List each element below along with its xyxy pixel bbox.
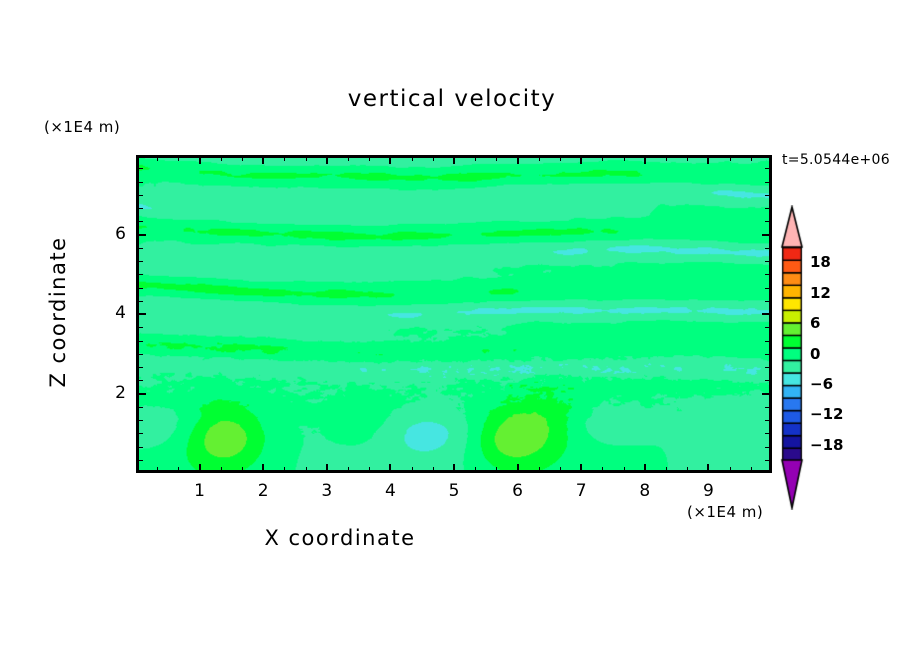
y-tick-minor <box>136 327 143 328</box>
x-tick-label: 3 <box>312 481 342 501</box>
y-tick-minor-right <box>765 433 772 434</box>
y-tick-label: 4 <box>96 303 126 323</box>
y-tick-minor <box>136 168 143 169</box>
y-tick-minor-right <box>765 420 772 421</box>
x-tick-minor-top <box>221 155 222 161</box>
y-tick-minor <box>136 261 143 262</box>
y-tick-minor-right <box>765 261 772 262</box>
y-tick-minor-right <box>765 380 772 381</box>
x-tick-minor-top <box>475 155 476 161</box>
y-tick-minor <box>136 407 143 408</box>
x-tick-label: 1 <box>185 481 215 501</box>
colorbar-tick-label: −6 <box>810 375 833 393</box>
x-tick-label: 9 <box>693 481 723 501</box>
x-tick-minor-top <box>433 155 434 161</box>
x-tick-major-top <box>453 155 455 164</box>
x-tick-minor <box>602 467 603 473</box>
x-tick-major-top <box>580 155 582 164</box>
y-tick-minor-right <box>765 221 772 222</box>
x-tick-major-top <box>389 155 391 164</box>
x-tick-major <box>580 464 582 473</box>
x-tick-minor <box>475 467 476 473</box>
x-tick-minor-top <box>412 155 413 161</box>
x-tick-label: 4 <box>375 481 405 501</box>
x-tick-minor-top <box>369 155 370 161</box>
colorbar-tick-label: 12 <box>810 284 831 302</box>
y-tick-minor <box>136 301 143 302</box>
colorbar: 181260−6−12−18 <box>780 205 900 510</box>
axis-ticks-layer: 123456789246 <box>0 0 904 654</box>
x-tick-minor <box>624 467 625 473</box>
x-tick-minor-top <box>560 155 561 161</box>
x-tick-major <box>389 464 391 473</box>
colorbar-tick-label: 18 <box>810 253 831 271</box>
colorbar-tick-label: 6 <box>810 314 820 332</box>
x-tick-major <box>262 464 264 473</box>
y-tick-minor-right <box>765 447 772 448</box>
x-tick-label: 2 <box>248 481 278 501</box>
x-tick-minor <box>433 467 434 473</box>
x-tick-minor <box>284 467 285 473</box>
y-tick-minor <box>136 420 143 421</box>
y-tick-minor <box>136 195 143 196</box>
x-tick-minor <box>730 467 731 473</box>
x-tick-minor-top <box>242 155 243 161</box>
y-tick-minor <box>136 341 143 342</box>
y-tick-minor-right <box>765 327 772 328</box>
y-tick-minor-right <box>765 168 772 169</box>
x-tick-minor <box>348 467 349 473</box>
y-tick-minor-right <box>765 460 772 461</box>
y-tick-minor <box>136 380 143 381</box>
x-tick-major <box>517 464 519 473</box>
y-tick-minor-right <box>765 208 772 209</box>
y-tick-minor-right <box>765 341 772 342</box>
colorbar-tick-label: 0 <box>810 345 820 363</box>
y-tick-minor <box>136 433 143 434</box>
x-tick-minor <box>157 467 158 473</box>
y-tick-major-right <box>762 393 772 395</box>
y-tick-minor-right <box>765 248 772 249</box>
x-tick-major-top <box>199 155 201 164</box>
x-tick-major <box>199 464 201 473</box>
x-tick-label: 6 <box>503 481 533 501</box>
y-tick-major-right <box>762 313 772 315</box>
x-tick-major-top <box>326 155 328 164</box>
x-tick-minor-top <box>284 155 285 161</box>
x-tick-minor <box>496 467 497 473</box>
y-tick-label: 2 <box>96 383 126 403</box>
x-tick-minor-top <box>306 155 307 161</box>
x-tick-minor <box>369 467 370 473</box>
x-tick-minor <box>666 467 667 473</box>
y-tick-minor <box>136 354 143 355</box>
x-tick-minor-top <box>602 155 603 161</box>
x-tick-minor-top <box>624 155 625 161</box>
x-tick-minor <box>242 467 243 473</box>
y-tick-minor-right <box>765 407 772 408</box>
x-tick-major <box>326 464 328 473</box>
colorbar-tick-label: −18 <box>810 436 843 454</box>
y-tick-minor-right <box>765 367 772 368</box>
x-tick-minor-top <box>348 155 349 161</box>
y-tick-major <box>136 393 146 395</box>
x-tick-major-top <box>262 155 264 164</box>
x-tick-minor-top <box>157 155 158 161</box>
y-tick-minor-right <box>765 182 772 183</box>
colorbar-tick-label: −12 <box>810 405 843 423</box>
x-tick-major <box>644 464 646 473</box>
y-tick-minor <box>136 447 143 448</box>
x-tick-major-top <box>644 155 646 164</box>
x-tick-minor-top <box>687 155 688 161</box>
y-tick-minor <box>136 367 143 368</box>
y-tick-major-right <box>762 234 772 236</box>
y-tick-minor <box>136 248 143 249</box>
x-tick-minor <box>560 467 561 473</box>
x-tick-minor-top <box>751 155 752 161</box>
x-tick-major <box>707 464 709 473</box>
x-tick-minor-top <box>539 155 540 161</box>
x-tick-minor-top <box>730 155 731 161</box>
y-tick-minor-right <box>765 301 772 302</box>
x-tick-major-top <box>707 155 709 164</box>
y-tick-minor-right <box>765 274 772 275</box>
x-tick-minor <box>751 467 752 473</box>
y-tick-minor <box>136 288 143 289</box>
y-tick-minor <box>136 460 143 461</box>
y-tick-minor <box>136 208 143 209</box>
y-tick-minor <box>136 274 143 275</box>
x-tick-minor <box>412 467 413 473</box>
x-tick-minor <box>221 467 222 473</box>
x-tick-label: 5 <box>439 481 469 501</box>
x-tick-minor-top <box>666 155 667 161</box>
y-tick-minor <box>136 221 143 222</box>
x-tick-minor <box>306 467 307 473</box>
x-tick-major-top <box>517 155 519 164</box>
y-tick-minor <box>136 182 143 183</box>
x-tick-minor <box>539 467 540 473</box>
x-tick-major <box>453 464 455 473</box>
y-tick-major <box>136 313 146 315</box>
x-tick-label: 8 <box>630 481 660 501</box>
y-tick-label: 6 <box>96 224 126 244</box>
x-tick-minor-top <box>178 155 179 161</box>
y-tick-minor-right <box>765 195 772 196</box>
x-tick-label: 7 <box>566 481 596 501</box>
x-tick-minor <box>687 467 688 473</box>
y-tick-major <box>136 234 146 236</box>
x-tick-minor-top <box>496 155 497 161</box>
y-tick-minor-right <box>765 354 772 355</box>
y-tick-minor-right <box>765 288 772 289</box>
x-tick-minor <box>178 467 179 473</box>
